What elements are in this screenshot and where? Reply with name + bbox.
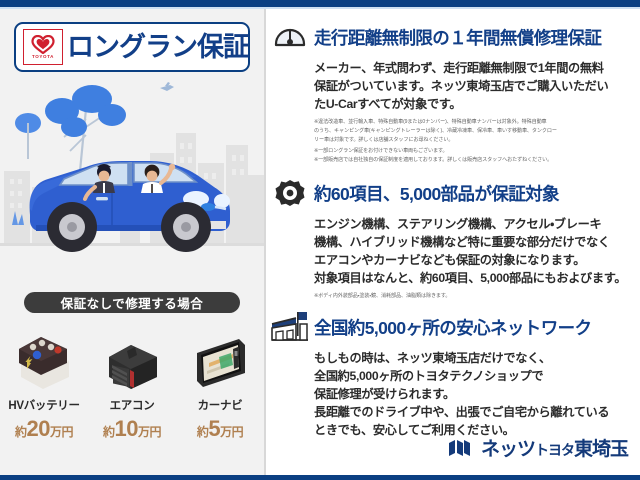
advertisement-page: TOYOTA ロングラン保証	[0, 0, 640, 480]
section-body: エンジン機構、ステアリング機構、アクセル・ブレーキ 機構、ハイブリッド機構など特…	[314, 216, 640, 288]
badge-title: ロングラン保証	[67, 34, 249, 61]
section-note: ※ボディ内外装部品・塗装・鏡、消耗部品、油脂類は除きます。	[314, 292, 640, 299]
longrun-warranty-badge: TOYOTA ロングラン保証	[14, 22, 250, 72]
speedometer-icon	[270, 17, 310, 57]
cost-items-list: HVバッテリー 約20万円	[0, 329, 264, 442]
air-conditioner-icon	[101, 329, 163, 391]
fine-print-line: ※一部販売店では自社独自の保証制度を適用しております。詳しくは販売店スタッフへお…	[314, 157, 640, 165]
dealer-name: ネッツトヨタ東埼玉	[481, 434, 628, 461]
wheel-front	[161, 202, 211, 252]
price-prefix: 約	[15, 425, 27, 439]
right-panel: 走行距離無制限の１年間無償修理保証 メーカー、年式問わず、走行距離無制限で1年間…	[266, 9, 640, 475]
cost-item-price: 約20万円	[15, 416, 73, 442]
section-fine-print: ※違法改造車、並行輸入車、特殊自動車(9または0ナンバー)、特殊自動車ナンバーは…	[314, 119, 640, 165]
body-line: エアコンやカーナビなども保証の対象になります。	[314, 252, 640, 270]
cost-item: HVバッテリー 約20万円	[0, 329, 88, 442]
dealer-name-part1: ネッツ	[481, 434, 535, 461]
section-body: メーカー、年式問わず、走行距離無制限で1年間の無料 保証がついています。ネッツ東…	[314, 60, 640, 114]
repair-without-warranty-banner: 保証なしで修理する場合	[24, 292, 240, 313]
fine-print-line: ※一部ロングラン保証をお付けできない車両もございます。	[314, 148, 640, 156]
cost-item-price: 約5万円	[197, 416, 243, 442]
left-panel: TOYOTA ロングラン保証	[0, 9, 264, 475]
netz-n-mark	[448, 439, 474, 457]
cost-item: カーナビ 約5万円	[176, 329, 264, 442]
cost-item-label: カーナビ	[198, 397, 243, 413]
section-header: 約60項目、5,000部品が保証対象	[266, 173, 640, 213]
cost-item-label: HVバッテリー	[8, 397, 79, 413]
cost-item-label: エアコン	[110, 397, 155, 413]
top-accent-bar	[0, 0, 640, 7]
heart-icon	[31, 35, 55, 54]
price-suffix: 万円	[50, 425, 73, 439]
body-line: メーカー、年式問わず、走行距離無制限で1年間の無料	[314, 60, 640, 78]
section-header: 走行距離無制限の１年間無償修理保証	[266, 17, 640, 57]
body-line: もしもの時は、ネッツ東埼玉店だけでなく、	[314, 350, 640, 368]
gear-icon	[270, 173, 310, 213]
hv-battery-icon	[13, 329, 75, 391]
toyota-heart-logo: TOYOTA	[23, 29, 63, 65]
section-body: もしもの時は、ネッツ東埼玉店だけでなく、 全国約5,000ヶ所のトヨタテクノショ…	[314, 350, 640, 440]
note-line: ※ボディ内外装部品・塗装・鏡、消耗部品、油脂類は除きます。	[314, 292, 640, 299]
body-line: 保証がついています。ネッツ東埼玉店でご購入いただい	[314, 78, 640, 96]
fine-print-line: のうち、キャンピング車(キャンピングトレーラーは除く)、冷蔵冷凍車、保冷車、車い…	[314, 128, 640, 136]
section-title: 全国約5,000ヶ所の安心ネットワーク	[314, 315, 591, 340]
toyota-wordmark: TOYOTA	[32, 55, 54, 60]
section-title: 走行距離無制限の１年間無償修理保証	[314, 25, 601, 50]
wheel-rear	[47, 202, 97, 252]
body-line: 対象項目はなんと、約60項目、5,000部品にもおよびます。	[314, 270, 640, 288]
shop-building-icon	[270, 307, 310, 347]
price-prefix: 約	[197, 425, 209, 439]
body-line: 全国約5,000ヶ所のトヨタテクノショップで	[314, 368, 640, 386]
price-suffix: 万円	[138, 425, 161, 439]
car-navigation-icon	[189, 329, 251, 391]
dealer-name-part2: トヨタ	[535, 440, 574, 460]
section-mileage-warranty: 走行距離無制限の１年間無償修理保証 メーカー、年式問わず、走行距離無制限で1年間…	[266, 17, 640, 166]
cost-item-price: 約10万円	[103, 416, 161, 442]
car-scene-graphic	[0, 75, 264, 285]
fine-print-line: ※違法改造車、並行輸入車、特殊自動車(9または0ナンバー)、特殊自動車ナンバーは…	[314, 119, 640, 127]
cost-item: エアコン 約10万円	[88, 329, 176, 442]
body-line: 長距離でのドライブ中や、出張でご自宅から離れている	[314, 404, 640, 422]
body-line: 保証修理が受けられます。	[314, 386, 640, 404]
dealer-logo: ネッツトヨタ東埼玉	[448, 434, 628, 461]
car-illustration	[0, 75, 264, 285]
section-header: 全国約5,000ヶ所の安心ネットワーク	[266, 307, 640, 347]
price-prefix: 約	[103, 425, 115, 439]
price-value: 10	[115, 416, 138, 441]
body-line: たU-Carすべてが対象です。	[314, 96, 640, 114]
section-covered-parts: 約60項目、5,000部品が保証対象 エンジン機構、ステアリング機構、アクセル・…	[266, 173, 640, 299]
dealer-name-part3: 東埼玉	[574, 434, 628, 461]
body-line: 機構、ハイブリッド機構など特に重要な部分だけでなく	[314, 234, 640, 252]
section-title: 約60項目、5,000部品が保証対象	[314, 181, 559, 206]
fine-print-line: リー車は対象です。詳しくは店舗スタッフにお尋ねください。	[314, 137, 640, 145]
section-service-network: 全国約5,000ヶ所の安心ネットワーク もしもの時は、ネッツ東埼玉店だけでなく、…	[266, 307, 640, 440]
price-value: 5	[208, 416, 220, 441]
bottom-accent-bar	[0, 475, 640, 480]
price-suffix: 万円	[220, 425, 243, 439]
body-line: エンジン機構、ステアリング機構、アクセル・ブレーキ	[314, 216, 640, 234]
price-value: 20	[27, 416, 50, 441]
